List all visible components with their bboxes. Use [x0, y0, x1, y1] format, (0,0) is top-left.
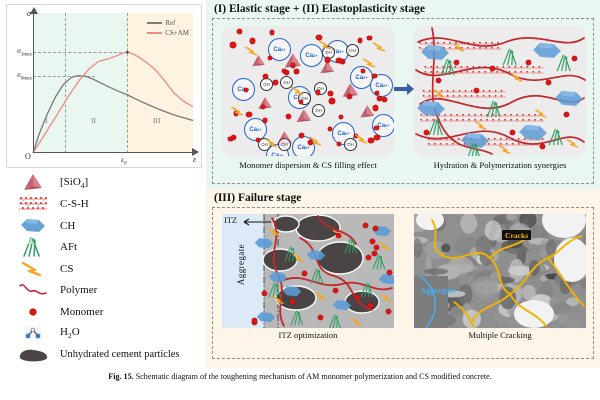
legend-row-ch: CH	[6, 215, 202, 237]
csh-layers-icon	[6, 195, 60, 213]
chart-plot-area: I II III Ref CS+AM	[33, 13, 193, 153]
itz-label: ITZ	[224, 216, 237, 225]
aggregate-label-sem: Aggregate	[420, 286, 457, 295]
multiple-cracking-panel	[414, 214, 586, 328]
itz-arrow-icon	[240, 217, 272, 227]
region-label-iii: III	[153, 116, 161, 125]
legend-item-ref: Ref	[147, 18, 189, 28]
left-column: I II III Ref CS+AM σ ε O σ1ma	[0, 0, 206, 368]
y-axis-arrow-icon	[30, 7, 38, 14]
region-label-ii: II	[91, 116, 96, 125]
legend-label-water: H2O	[60, 326, 80, 340]
legend-row-cement: Unhydrated cement particles	[6, 344, 202, 366]
legend-label-ch: CH	[60, 220, 75, 232]
caption-itz-optimization: ITZ optimization	[222, 330, 394, 340]
legend-swatch-csam	[147, 32, 162, 34]
symbol-legend: [SiO4]	[6, 172, 202, 366]
chart-legend: Ref CS+AM	[147, 18, 189, 38]
hydration-polymerization-panel	[414, 26, 586, 156]
legend-label-csh: C-S-H	[60, 198, 89, 210]
legend-label-sio4: [SiO4]	[60, 176, 88, 190]
caption-monomer-dispersion: Monomer dispersion & CS filling effect	[222, 160, 394, 170]
peak-marker	[126, 51, 129, 54]
caption-multiple-cracking: Multiple Cracking	[414, 330, 586, 340]
legend-row-monomer: Monomer	[6, 301, 202, 323]
legend-row-polymer: Polymer	[6, 280, 202, 302]
polymer-squiggle-icon	[6, 282, 60, 298]
aft-needles-icon	[6, 237, 60, 257]
cs-arrow-icon	[6, 260, 60, 278]
legend-item-csam: CS+AM	[147, 28, 189, 38]
right-arrow-icon	[394, 82, 414, 101]
y-axis-title: σ	[27, 9, 31, 18]
legend-row-sio4: [SiO4]	[6, 172, 202, 194]
x-tick-epsilon0: ε0	[121, 155, 126, 167]
legend-row-cs: CS	[6, 258, 202, 280]
figure-caption-text: Schematic diagram of the toughening mech…	[136, 372, 492, 381]
ch-hexagon-icon	[6, 217, 60, 235]
itz-optimization-panel: Aggregate	[222, 214, 394, 328]
legend-label-aft: AFt	[60, 241, 77, 253]
figure-number: Fig. 15.	[108, 372, 133, 381]
origin-label: O	[25, 152, 31, 161]
y-tick-sigma0max: σ0max	[8, 71, 32, 81]
curve-csam	[33, 52, 193, 153]
legend-row-aft: AFt	[6, 237, 202, 259]
y-tick-sigma1max: σ1max	[8, 47, 32, 57]
legend-swatch-ref	[147, 22, 162, 24]
stage-3-section: (III) Failure stage Aggregate ITZ Cracks…	[206, 190, 600, 368]
y-axis	[33, 13, 34, 153]
monomer-dispersion-panel: Ca2+Ca2+Ca2+Ca2+Ca2+Ca2+Ca2+Ca2+Ca2+Ca2+…	[222, 26, 394, 156]
water-molecule-icon	[6, 324, 60, 342]
x-axis	[33, 152, 193, 153]
x-axis-title: ε	[193, 155, 196, 164]
cracks-label: Cracks	[502, 230, 531, 240]
legend-row-csh: C-S-H	[6, 194, 202, 216]
legend-label-ref: Ref	[165, 18, 175, 28]
legend-label-cs: CS	[60, 263, 73, 275]
figure-root: I II III Ref CS+AM σ ε O σ1ma	[0, 0, 600, 400]
figure-caption: Fig. 15. Schematic diagram of the toughe…	[0, 372, 600, 381]
stage-12-title: (I) Elastic stage + (II) Elastoplasticit…	[214, 3, 425, 15]
stage-3-title: (III) Failure stage	[214, 192, 301, 204]
cement-particle-icon	[6, 347, 60, 363]
legend-label-cement: Unhydrated cement particles	[60, 349, 179, 360]
caption-hydration: Hydration & Polymerization synergies	[414, 160, 586, 170]
legend-label-polymer: Polymer	[60, 284, 97, 296]
right-column: (I) Elastic stage + (II) Elastoplasticit…	[206, 0, 600, 368]
legend-row-water: H2O	[6, 323, 202, 345]
legend-label-monomer: Monomer	[60, 306, 103, 318]
stress-strain-chart: I II III Ref CS+AM σ ε O σ1ma	[6, 4, 202, 168]
monomer-dot-icon	[6, 305, 60, 319]
stage-12-section: (I) Elastic stage + (II) Elastoplasticit…	[206, 0, 600, 190]
region-label-i: I	[45, 116, 48, 125]
legend-label-csam: CS+AM	[165, 28, 189, 38]
tetrahedron-icon	[6, 173, 60, 193]
